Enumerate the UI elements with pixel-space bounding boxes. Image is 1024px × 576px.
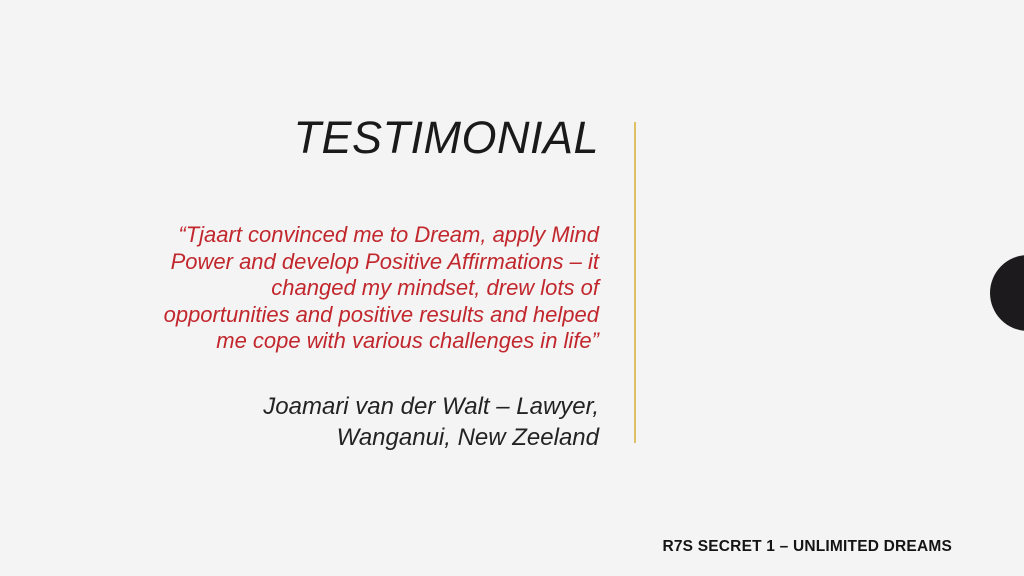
page-title: TESTIMONIAL: [0, 112, 599, 164]
quote-line: Power and develop Positive Affirmations …: [60, 249, 599, 276]
slide-canvas: TESTIMONIAL “Tjaart convinced me to Drea…: [0, 0, 1024, 576]
testimonial-attribution: Joamari van der Walt – Lawyer, Wanganui,…: [60, 391, 599, 453]
decorative-circle-shape: [990, 255, 1024, 331]
slide-footer: R7S SECRET 1 – UNLIMITED DREAMS: [400, 538, 952, 556]
quote-line: “Tjaart convinced me to Dream, apply Min…: [60, 222, 599, 249]
quote-line: changed my mindset, drew lots of: [60, 275, 599, 302]
vertical-divider-line: [634, 122, 636, 443]
attribution-line: Wanganui, New Zeeland: [60, 422, 599, 453]
quote-line: me cope with various challenges in life”: [60, 328, 599, 355]
testimonial-quote: “Tjaart convinced me to Dream, apply Min…: [60, 222, 599, 355]
attribution-line: Joamari van der Walt – Lawyer,: [60, 391, 599, 422]
quote-line: opportunities and positive results and h…: [60, 302, 599, 329]
